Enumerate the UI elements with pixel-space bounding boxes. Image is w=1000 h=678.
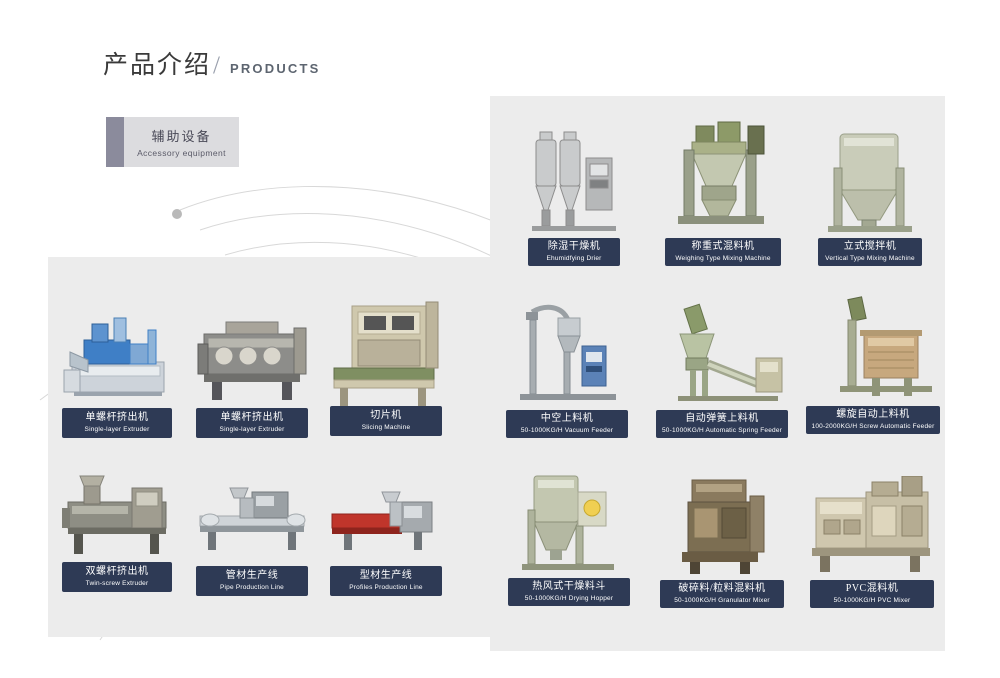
product-label: 热风式干燥料斗 50-1000KG/H Drying Hopper [508, 578, 630, 606]
product-card[interactable]: 双螺杆挤出机 Twin-screw Extruder [62, 462, 172, 602]
product-card[interactable]: 热风式干燥料斗 50-1000KG/H Drying Hopper [508, 470, 630, 606]
product-card[interactable]: 型材生产线 Profiles Production Line [330, 468, 442, 602]
product-label-en: 50-1000KG/H Drying Hopper [525, 594, 613, 603]
product-label: PVC混料机 50-1000KG/H PVC Mixer [810, 580, 934, 608]
product-label-cn: 切片机 [370, 410, 402, 422]
product-label-cn: 螺旋自动上料机 [836, 409, 910, 421]
product-label-cn: 除湿干燥机 [548, 241, 601, 253]
product-label-cn: 单螺杆挤出机 [221, 412, 284, 424]
product-label: 自动弹簧上料机 50-1000KG/H Automatic Spring Fee… [656, 410, 788, 438]
product-card[interactable]: 螺旋自动上料机 100-2000KG/H Screw Automatic Fee… [806, 294, 940, 438]
page-title-cn: 产品介绍 [103, 45, 211, 81]
screw-automatic-feeder-image [806, 294, 940, 408]
product-label: 双螺杆挤出机 Twin-screw Extruder [62, 562, 172, 592]
title-slash: / [213, 52, 220, 80]
page-title-en: PRODUCTS [230, 61, 321, 76]
product-label-en: Single-layer Extruder [85, 425, 150, 434]
vacuum-feeder-image [506, 300, 628, 408]
product-label: 单螺杆挤出机 Single-layer Extruder [196, 408, 308, 438]
product-label-en: 50-1000KG/H Automatic Spring Feeder [662, 426, 782, 435]
product-label-cn: 管材生产线 [226, 570, 279, 582]
product-card[interactable]: 自动弹簧上料机 50-1000KG/H Automatic Spring Fee… [656, 300, 788, 438]
product-label-en: 100-2000KG/H Screw Automatic Feeder [812, 422, 935, 431]
product-card[interactable]: PVC混料机 50-1000KG/H PVC Mixer [810, 476, 934, 606]
product-label-en: Ehumidfying Drier [546, 254, 601, 263]
product-label-cn: 热风式干燥料斗 [532, 581, 606, 593]
product-card[interactable]: 破碎料/粒料混料机 50-1000KG/H Granulator Mixer [660, 472, 784, 606]
product-card[interactable]: 中空上料机 50-1000KG/H Vacuum Feeder [506, 300, 628, 438]
product-card[interactable]: 除湿干燥机 Ehumidfying Drier [528, 128, 620, 266]
product-label: 破碎料/粒料混料机 50-1000KG/H Granulator Mixer [660, 580, 784, 608]
product-label-cn: 立式搅拌机 [844, 241, 897, 253]
product-card[interactable]: 单螺杆挤出机 Single-layer Extruder [196, 300, 308, 445]
product-label-cn: 自动弹簧上料机 [685, 413, 759, 425]
product-label-en: Weighing Type Mixing Machine [675, 254, 770, 263]
product-label-cn: 单螺杆挤出机 [86, 412, 149, 424]
single-layer-extruder-image-2 [196, 300, 308, 410]
page-title: 产品介绍 / PRODUCTS [103, 45, 321, 81]
product-label-en: Slicing Machine [362, 423, 411, 432]
product-card[interactable]: 称重式混料机 Weighing Type Mixing Machine [668, 120, 778, 266]
accessory-tag-cn: 辅助设备 [151, 126, 211, 145]
product-label-cn: 破碎料/粒料混料机 [678, 583, 765, 595]
product-label: 管材生产线 Pipe Production Line [196, 566, 308, 596]
product-label-en: Twin-screw Extruder [86, 579, 149, 588]
accessory-tag-en: Accessory equipment [137, 148, 226, 158]
single-layer-extruder-image-1 [62, 300, 172, 410]
product-label: 称重式混料机 Weighing Type Mixing Machine [665, 238, 781, 266]
product-label-en: Single-layer Extruder [220, 425, 285, 434]
granulator-mixer-image [660, 472, 784, 578]
product-label: 螺旋自动上料机 100-2000KG/H Screw Automatic Fee… [806, 406, 940, 434]
slicing-machine-image [330, 296, 442, 410]
product-label: 单螺杆挤出机 Single-layer Extruder [62, 408, 172, 438]
product-card[interactable]: 立式搅拌机 Vertical Type Mixing Machine [818, 128, 922, 266]
product-label-cn: 中空上料机 [541, 413, 594, 425]
product-label-cn: 双螺杆挤出机 [86, 566, 149, 578]
product-card[interactable]: 切片机 Slicing Machine [330, 296, 442, 446]
weighing-type-mixing-machine-image [668, 120, 778, 236]
product-label-cn: 称重式混料机 [692, 241, 755, 253]
product-label: 中空上料机 50-1000KG/H Vacuum Feeder [506, 410, 628, 438]
product-card[interactable]: 管材生产线 Pipe Production Line [196, 468, 308, 602]
product-label-cn: PVC混料机 [846, 583, 898, 595]
pipe-production-line-image [196, 468, 308, 564]
product-label: 立式搅拌机 Vertical Type Mixing Machine [818, 238, 922, 266]
product-label-en: Pipe Production Line [220, 583, 284, 592]
drying-hopper-image [508, 470, 630, 578]
product-label-en: 50-1000KG/H PVC Mixer [834, 596, 911, 605]
twin-screw-extruder-image [62, 462, 172, 562]
product-label: 切片机 Slicing Machine [330, 406, 442, 436]
product-label: 除湿干燥机 Ehumidfying Drier [528, 238, 620, 266]
ehumidfying-drier-image [528, 128, 620, 236]
profiles-production-line-image [330, 468, 442, 564]
product-label-en: 50-1000KG/H Granulator Mixer [674, 596, 770, 605]
product-label: 型材生产线 Profiles Production Line [330, 566, 442, 596]
product-card[interactable]: 单螺杆挤出机 Single-layer Extruder [62, 300, 172, 445]
pvc-mixer-image [810, 476, 934, 580]
product-label-en: Profiles Production Line [349, 583, 422, 592]
automatic-spring-feeder-image [656, 300, 788, 408]
product-label-en: Vertical Type Mixing Machine [825, 254, 915, 263]
product-label-cn: 型材生产线 [360, 570, 413, 582]
vertical-type-mixing-machine-image [818, 128, 922, 238]
accessory-equipment-tag: 辅助设备 Accessory equipment [106, 117, 239, 167]
product-label-en: 50-1000KG/H Vacuum Feeder [521, 426, 613, 435]
